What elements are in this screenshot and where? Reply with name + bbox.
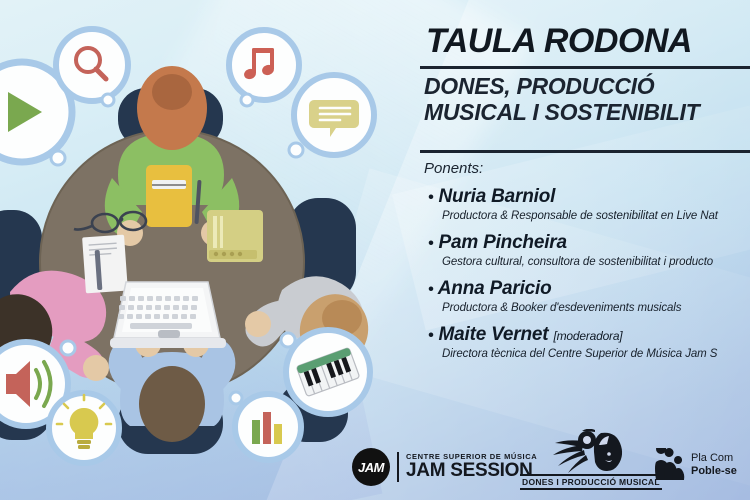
family-group-icon	[655, 448, 685, 482]
notebook-yellow	[146, 165, 192, 227]
logo-divider	[397, 452, 399, 482]
bubble-dot	[230, 392, 242, 404]
pla-line2: Poble-se	[691, 465, 737, 478]
dones-caption: DONES I PRODUCCIÓ MUSICAL	[520, 474, 662, 490]
list-item: • Anna Paricio Productora & Booker d'esd…	[428, 278, 750, 314]
list-item: • Pam Pincheira Gestora cultural, consul…	[428, 232, 750, 268]
roundtable-illustration	[0, 0, 415, 500]
jam-mark-text: JAM	[352, 448, 390, 486]
list-item: • Maite Vernet [moderadora] Directora tè…	[428, 324, 750, 360]
page-subtitle: DONES, PRODUCCIÓ MUSICAL I SOSTENIBILIT	[424, 74, 699, 126]
bubble-dot	[241, 94, 253, 106]
piano-keyboard-icon-bubble	[286, 330, 370, 414]
woman-headphones-icon	[539, 429, 643, 473]
list-item: • Nuria Barniol Productora & Responsable…	[428, 186, 750, 222]
bullet-icon: •	[428, 189, 433, 206]
poster-canvas: TAULA RODONA DONES, PRODUCCIÓ MUSICAL I …	[0, 0, 750, 500]
bullet-icon: •	[428, 235, 433, 252]
speaker-role: Directora tècnica del Centre Superior de…	[442, 348, 750, 360]
bubble-dot	[102, 94, 114, 106]
jam-circle-icon: JAM	[352, 448, 390, 486]
pla-line1: Pla Com	[691, 452, 737, 465]
laptop	[110, 282, 226, 348]
book-khaki	[207, 210, 263, 262]
bubble-dot	[281, 333, 295, 347]
poster-text-panel: TAULA RODONA DONES, PRODUCCIÓ MUSICAL I …	[418, 0, 750, 418]
logo-pla-comunitari: Pla Com Poble-se	[655, 448, 737, 482]
divider-bottom	[420, 150, 750, 153]
subtitle-line-1: DONES, PRODUCCIÓ	[424, 74, 699, 100]
speaker-role-tag: [moderadora]	[553, 329, 622, 343]
speaker-role: Gestora cultural, consultora de sostenib…	[442, 256, 750, 268]
speaker-name: • Pam Pincheira	[428, 232, 750, 254]
bubble-dot	[51, 151, 65, 165]
speaker-name-text: Pam Pincheira	[439, 232, 567, 253]
music-note-icon-bubble	[229, 30, 299, 100]
bubble-dot	[289, 143, 303, 157]
search-icon-bubble	[56, 29, 128, 101]
speaker-role: Productora & Booker d'esdeveniments musi…	[442, 302, 750, 314]
logo-dones-produccio-musical: DONES I PRODUCCIÓ MUSICAL	[520, 429, 662, 490]
speaker-name: • Nuria Barniol	[428, 186, 750, 208]
speaker-role: Productora & Responsable de sostenibilit…	[442, 210, 750, 222]
speakers-list: • Nuria Barniol Productora & Responsable…	[428, 186, 750, 370]
speaker-name: • Maite Vernet [moderadora]	[428, 324, 750, 346]
chat-bubble-icon-bubble	[294, 75, 374, 155]
divider-top	[420, 66, 750, 69]
speaker-name-text: Anna Paricio	[438, 278, 552, 299]
footer-logos: JAM CENTRE SUPERIOR DE MÚSICA JAM SESSIO…	[0, 428, 750, 500]
jam-logo-line2: JAM SESSION	[406, 461, 537, 481]
speaker-name: • Anna Paricio	[428, 278, 750, 300]
bubble-dot	[61, 341, 75, 355]
page-title: TAULA RODONA	[426, 22, 692, 61]
speaker-name-text: Nuria Barniol	[439, 186, 556, 207]
bullet-icon: •	[428, 281, 433, 298]
document-papers	[82, 235, 128, 294]
logo-jam-session: JAM CENTRE SUPERIOR DE MÚSICA JAM SESSIO…	[352, 448, 537, 486]
bullet-icon: •	[428, 327, 433, 344]
speaker-name-text: Maite Vernet	[439, 324, 549, 345]
speakers-label: Ponents:	[424, 160, 483, 177]
subtitle-line-2: MUSICAL I SOSTENIBILIT	[424, 100, 699, 126]
